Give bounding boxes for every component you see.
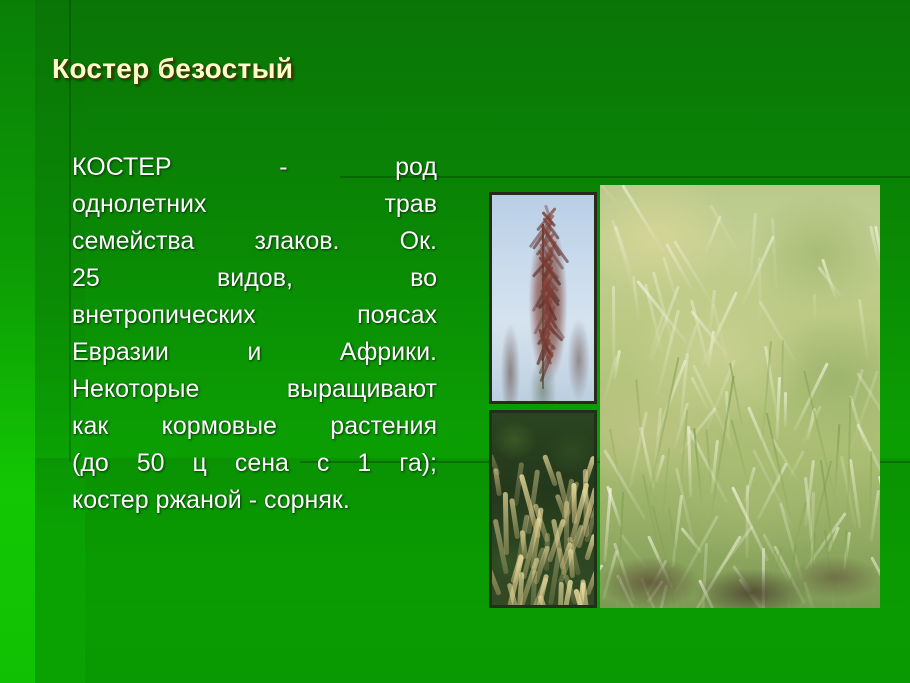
photo-soil-layer — [600, 481, 880, 608]
slide-body-text: КОСТЕР - род однолетних трав семейства з… — [72, 149, 437, 519]
body-line: (до 50 ц сена с 1 га); — [72, 445, 437, 482]
body-line: Евразии и Африки. — [72, 334, 437, 371]
body-line: костер ржаной - сорняк. — [72, 482, 437, 519]
photo-golden-panicles — [489, 410, 597, 608]
body-line: однолетних трав — [72, 186, 437, 223]
photo-brome-meadow — [600, 185, 880, 608]
body-line: 25 видов, во — [72, 260, 437, 297]
body-line: семейства злаков. Ок. — [72, 223, 437, 260]
photo-brown-panicle — [489, 192, 597, 404]
slide-title: Костер безостый — [52, 53, 293, 85]
body-line: КОСТЕР - род — [72, 149, 437, 186]
presentation-slide: Костер безостый КОСТЕР - род однолетних … — [0, 0, 910, 683]
body-line: как кормовые растения — [72, 408, 437, 445]
body-line: внетропических поясах — [72, 297, 437, 334]
body-line: Некоторые выращивают — [72, 371, 437, 408]
background-band-bright — [0, 0, 35, 683]
